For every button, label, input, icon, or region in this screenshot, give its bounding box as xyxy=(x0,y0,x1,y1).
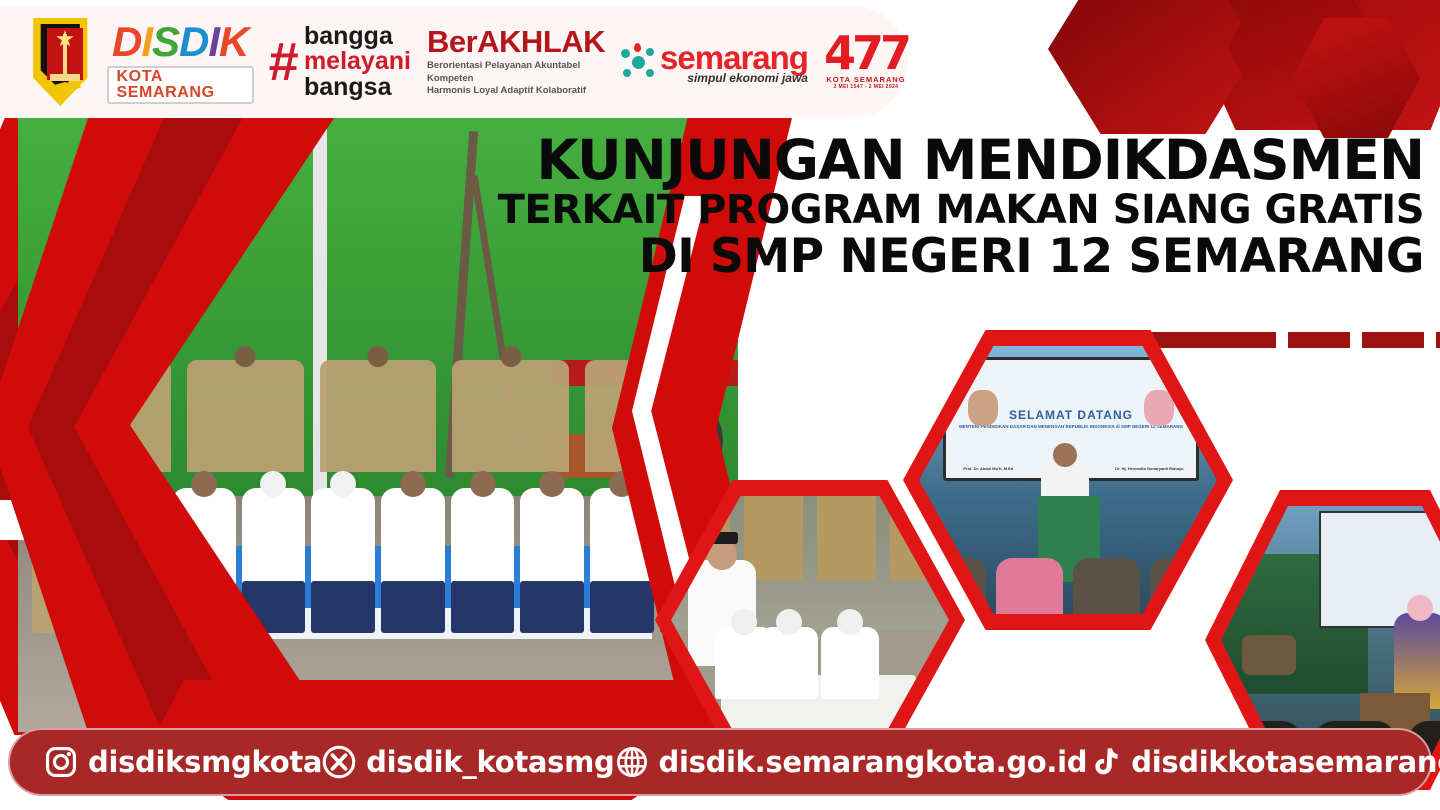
corner-hexagon-1 xyxy=(1048,0,1258,134)
instagram-icon xyxy=(44,745,78,779)
semarang-wordmark: semarang xyxy=(660,41,808,74)
hash-icon: # xyxy=(268,38,298,87)
berakhlak-sub-1: Berorientasi Pelayanan Akuntabel Kompete… xyxy=(427,60,605,86)
disdik-logo: D I S D I K KOTA SEMARANG xyxy=(107,21,254,104)
poster-canvas: KUNJUNGAN MENDIKDASMEN TERKAIT PROGRAM M… xyxy=(0,0,1440,810)
social-x[interactable]: disdik_kotasmg xyxy=(322,745,614,779)
berakhlak-logo: BerAKHLAK Berorientasi Pelayanan Akuntab… xyxy=(427,26,605,98)
bangga-line-1: bangga xyxy=(304,24,411,50)
slide-subtitle: MENTERI PENDIDIKAN DASAR DAN MENENGAH RE… xyxy=(959,424,1183,430)
network-node-icon xyxy=(621,45,655,79)
tiktok-handle: disdikkotasemarang xyxy=(1131,745,1440,779)
anniversary-logo: 477 KOTA SEMARANG 2 MEI 1547 - 2 MEI 202… xyxy=(824,34,908,90)
social-tiktok[interactable]: disdikkotasemarang xyxy=(1087,745,1440,779)
instagram-handle: disdiksmgkota xyxy=(88,745,322,779)
anniversary-date: 2 MEI 1547 - 2 MEI 2024 xyxy=(834,84,899,90)
logo-header-bar: D I S D I K KOTA SEMARANG # bangga melay… xyxy=(0,6,908,118)
x-handle: disdik_kotasmg xyxy=(366,745,614,779)
title-line-3: DI SMP NEGERI 12 SEMARANG xyxy=(498,233,1424,281)
poster-title: KUNJUNGAN MENDIKDASMEN TERKAIT PROGRAM M… xyxy=(498,134,1424,281)
social-footer-bar: disdiksmgkota disdik_kotasmg disdik.sema… xyxy=(8,728,1432,796)
semarang-tagline: simpul ekonomi jawa xyxy=(660,72,808,84)
disdik-letter-4: I xyxy=(208,21,219,63)
anniversary-mark: 477 xyxy=(824,34,908,73)
tiktok-icon xyxy=(1087,745,1121,779)
crest-icon xyxy=(28,18,93,106)
disdik-letter-1: I xyxy=(141,21,152,63)
berakhlak-sub-2: Harmonis Loyal Adaptif Kolaboratif xyxy=(427,85,605,98)
berakhlak-title: BerAKHLAK xyxy=(427,26,605,57)
bangga-line-2: melayani xyxy=(304,49,411,75)
disdik-letter-5: K xyxy=(219,21,248,63)
slide-name-right: Dr. Hj. Hevearita Gunaryanti Rahayu xyxy=(1115,466,1183,471)
slide-name-left: Prof. Dr. Abdul Mu'ti, M.Ed xyxy=(963,466,1013,471)
x-twitter-icon xyxy=(322,745,356,779)
inset-photo-students xyxy=(655,480,965,760)
globe-icon xyxy=(615,745,649,779)
semarang-logo: semarang simpul ekonomi jawa xyxy=(621,41,808,84)
website-url: disdik.semarangkota.go.id xyxy=(659,745,1088,779)
bangga-line-3: bangsa xyxy=(304,75,411,101)
social-instagram[interactable]: disdiksmgkota xyxy=(44,745,322,779)
disdik-subtitle: KOTA SEMARANG xyxy=(107,66,254,104)
disdik-wordmark: D I S D I K xyxy=(112,21,248,63)
disdik-letter-0: D xyxy=(112,21,141,63)
disdik-letter-2: S xyxy=(152,21,179,63)
social-website[interactable]: disdik.semarangkota.go.id xyxy=(615,745,1088,779)
bangga-melayani-bangsa-logo: # bangga melayani bangsa xyxy=(268,24,411,101)
disdik-letter-3: D xyxy=(179,21,208,63)
anniversary-city: KOTA SEMARANG xyxy=(826,75,905,84)
slide-title: SELAMAT DATANG xyxy=(1009,408,1133,422)
title-line-2: TERKAIT PROGRAM MAKAN SIANG GRATIS xyxy=(498,189,1424,231)
title-line-1: KUNJUNGAN MENDIKDASMEN xyxy=(498,134,1424,187)
